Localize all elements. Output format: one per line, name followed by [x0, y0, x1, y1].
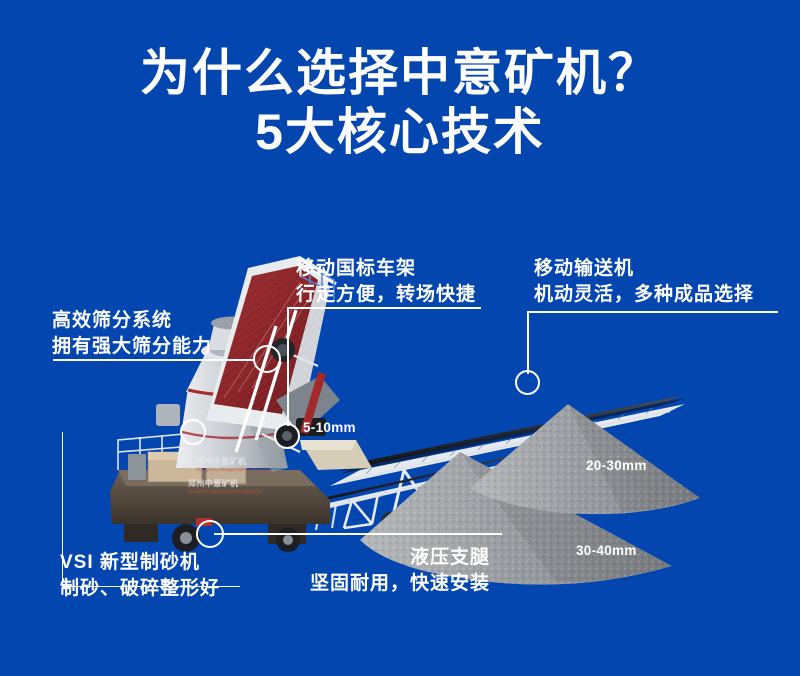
connector-line-frame-v	[287, 307, 289, 426]
connector-ring-frame	[274, 423, 300, 449]
callout-hydraulic-line1: 液压支腿	[266, 545, 490, 571]
callout-screening-line1: 高效筛分系统	[52, 308, 212, 334]
callout-screening-system: 高效筛分系统 拥有强大筛分能力	[52, 308, 212, 360]
size-tag-20-30mm: 20-30mm	[586, 458, 647, 473]
connector-ring-hydraulic	[196, 520, 224, 548]
callout-mobile-conveyor: 移动输送机 机动灵活，多种成品选择	[534, 256, 754, 308]
connector-line-hydraulic	[214, 533, 502, 535]
connector-line-conveyor-h	[527, 311, 778, 313]
size-tag-30-40mm: 30-40mm	[576, 543, 637, 558]
callout-frame-line1: 移动国标车架	[296, 256, 476, 282]
callout-conveyor-line2: 机动灵活，多种成品选择	[534, 282, 754, 308]
callout-hydraulic-outrigger: 液压支腿 坚固耐用，快速安装	[266, 545, 490, 597]
callout-vsi-line2: 制砂、破碎整形好	[60, 576, 220, 602]
poster-canvas: 为什么选择中意矿机？ 5大核心技术	[0, 0, 800, 676]
callout-hydraulic-line2: 坚固耐用，快速安装	[266, 571, 490, 597]
callout-vsi-sand-maker: VSI 新型制砂机 制砂、破碎整形好	[60, 550, 220, 602]
connector-line-conveyor-v	[527, 311, 529, 374]
connector-ring-vsi	[180, 419, 206, 445]
connector-ring-conveyor	[515, 370, 540, 395]
callout-frame-line2: 行走方便，转场快捷	[296, 282, 476, 308]
size-tag-5-10mm: 5-10mm	[303, 420, 356, 435]
callout-screening-line2: 拥有强大筛分能力	[52, 334, 212, 360]
callout-conveyor-line1: 移动输送机	[534, 256, 754, 282]
connector-line-screening	[53, 359, 255, 361]
callout-mobile-frame: 移动国标车架 行走方便，转场快捷	[296, 256, 476, 308]
callout-vsi-line1: VSI 新型制砂机	[60, 550, 220, 576]
connector-line-frame-h	[287, 307, 481, 309]
connector-ring-screening	[253, 345, 281, 373]
